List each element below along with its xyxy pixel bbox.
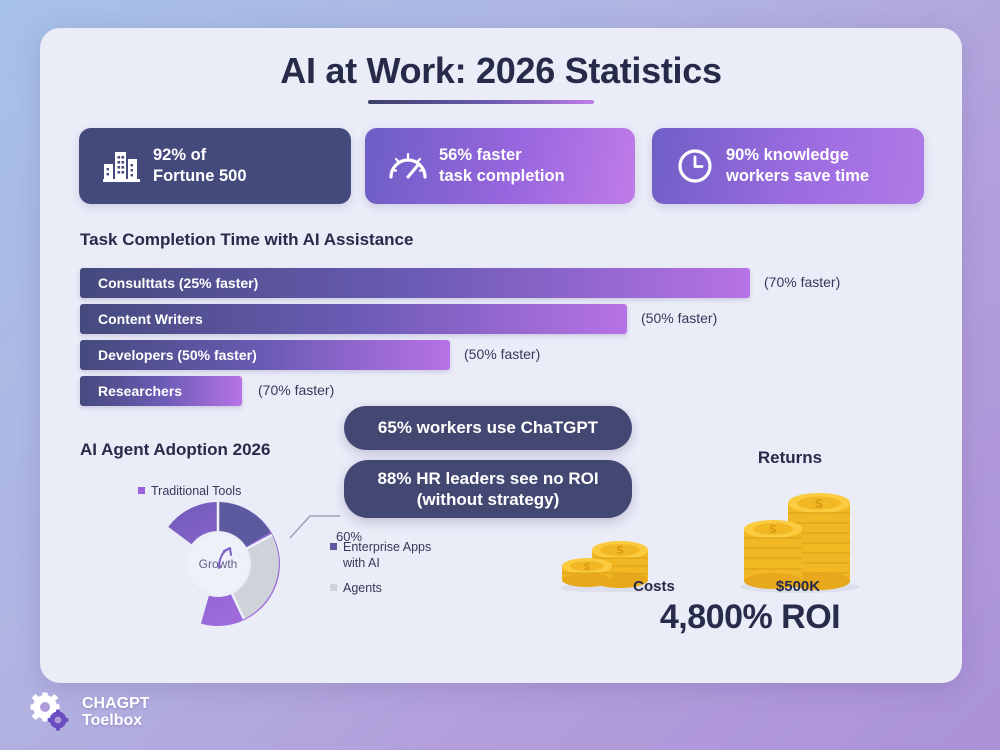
- returns-amount-label: $500K: [730, 578, 866, 595]
- stat-card-text: 56% faster task completion: [435, 145, 565, 187]
- returns-title: Returns: [720, 448, 860, 468]
- clock-icon: [668, 147, 722, 185]
- bar-label: Developers (50% faster): [80, 347, 257, 363]
- stat-card-line1: 92% of: [153, 145, 247, 166]
- legend-label: Enterprise Apps with AI: [343, 539, 431, 572]
- stat-card-line1: 56% faster: [439, 145, 565, 166]
- brand-text: CHAGPT Toelbox: [82, 696, 150, 730]
- bar-content-writers[interactable]: Content Writers: [80, 304, 627, 334]
- stat-card-row: 92% of Fortune 500 56% faster task compl…: [79, 128, 924, 204]
- title-underline-rule: [368, 100, 594, 104]
- svg-text:S: S: [583, 562, 590, 573]
- bar-row-content-writers: Content Writers (50% faster): [80, 304, 960, 334]
- bar-value-label: (50% faster): [464, 346, 540, 362]
- bar-label: Researchers: [80, 383, 182, 399]
- bar-developers[interactable]: Developers (50% faster): [80, 340, 450, 370]
- svg-text:S: S: [815, 497, 824, 511]
- legend-swatch-icon: [138, 487, 145, 494]
- page-title: AI at Work: 2026 Statistics: [40, 50, 962, 92]
- bar-row-researchers: Researchers (70% faster): [80, 376, 960, 406]
- stat-card-text: 92% of Fortune 500: [149, 145, 247, 187]
- brand-logo[interactable]: CHAGPT Toelbox: [28, 692, 150, 734]
- bar-consultants[interactable]: Consulttats (25% faster): [80, 268, 750, 298]
- stat-card-line2: Fortune 500: [153, 166, 247, 187]
- stat-card-line2: workers save time: [726, 166, 869, 187]
- donut-chart-title: AI Agent Adoption 2026: [80, 440, 270, 460]
- legend-swatch-icon: [330, 543, 337, 550]
- building-icon: [95, 148, 149, 184]
- costs-label: Costs: [584, 578, 724, 595]
- stat-card-knowledge-workers[interactable]: 90% knowledge workers save time: [652, 128, 924, 204]
- brand-line-1: CHAGPT: [82, 696, 150, 713]
- infographic-card: AI at Work: 2026 Statistics: [40, 28, 962, 683]
- bar-row-developers: Developers (50% faster) (50% faster): [80, 340, 960, 370]
- callout-chatgpt-usage[interactable]: 65% workers use ChaTGPT: [344, 406, 632, 450]
- bar-label: Consulttats (25% faster): [80, 275, 258, 291]
- donut-chart[interactable]: Growth: [152, 498, 284, 630]
- stat-card-fortune-500[interactable]: 92% of Fortune 500: [79, 128, 351, 204]
- stat-card-task-completion[interactable]: 56% faster task completion: [365, 128, 635, 204]
- legend-label: Traditional Tools: [151, 484, 241, 498]
- bar-value-label: (70% faster): [258, 382, 334, 398]
- bar-row-consultants: Consulttats (25% faster) (70% faster): [80, 268, 960, 298]
- donut-legend-enterprise-apps[interactable]: Enterprise Apps with AI: [330, 539, 431, 572]
- donut-legend-traditional-tools[interactable]: Traditional Tools: [138, 484, 241, 498]
- legend-swatch-icon: [330, 584, 337, 591]
- callout-text: 65% workers use ChaTGPT: [378, 417, 598, 438]
- growth-arrow-icon: [215, 545, 237, 571]
- gauge-icon: [381, 149, 435, 183]
- gear-icon: [28, 692, 74, 734]
- svg-text:S: S: [616, 544, 624, 557]
- bar-value-label: (50% faster): [641, 310, 717, 326]
- stat-card-line1: 90% knowledge: [726, 145, 869, 166]
- svg-text:S: S: [769, 523, 777, 536]
- brand-line-2: Toelbox: [82, 713, 150, 730]
- callout-hr-roi[interactable]: 88% HR leaders see no ROI (without strat…: [344, 460, 632, 518]
- stat-card-line2: task completion: [439, 166, 565, 187]
- coins-returns-icon: S S: [730, 483, 866, 593]
- stat-card-text: 90% knowledge workers save time: [722, 145, 869, 187]
- bar-researchers[interactable]: Researchers: [80, 376, 242, 406]
- donut-center-hole: Growth: [185, 531, 251, 597]
- bar-value-label: (70% faster): [764, 274, 840, 290]
- donut-legend-agents[interactable]: Agents: [330, 581, 382, 595]
- bar-label: Content Writers: [80, 311, 203, 327]
- bar-chart-title: Task Completion Time with AI Assistance: [80, 230, 413, 250]
- roi-headline: 4,800% ROI: [560, 598, 940, 637]
- callout-text: 88% HR leaders see no ROI (without strat…: [377, 468, 598, 511]
- legend-label: Agents: [343, 581, 382, 595]
